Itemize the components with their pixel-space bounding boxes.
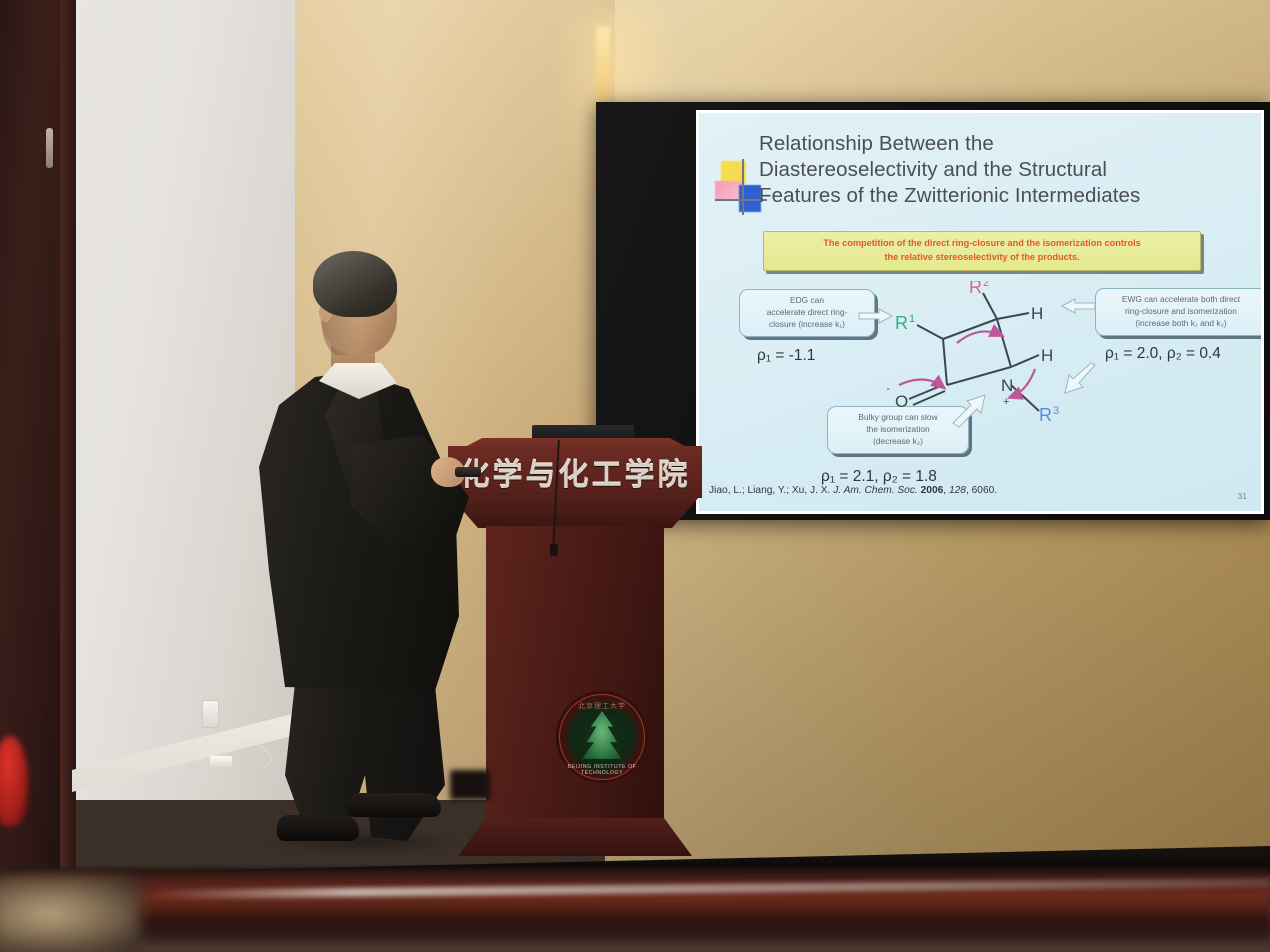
- slide-title-line-2: Diastereoselectivity and the Structural: [759, 157, 1239, 183]
- callout-ewg-line-2: ring-closure and isomerization: [1102, 306, 1260, 318]
- citation-volume: 128: [949, 485, 966, 496]
- power-adapter: [210, 756, 232, 767]
- podium-column: 北京理工大学 BEIJING INSTITUTE OF TECHNOLOGY: [486, 526, 664, 836]
- slide-content: Relationship Between the Diastereoselect…: [699, 113, 1261, 511]
- atom-label-H-1: H: [1031, 304, 1043, 323]
- slide: Relationship Between the Diastereoselect…: [696, 110, 1264, 514]
- slide-title: Relationship Between the Diastereoselect…: [759, 131, 1239, 210]
- atom-label-R2: R: [969, 281, 982, 297]
- callout-ewg: EWG can accelerate both direct ring-clos…: [1095, 288, 1261, 336]
- door-handle[interactable]: [46, 128, 53, 168]
- podium-sign-text: 化学与化工学院: [458, 450, 692, 494]
- lecture-photo: Relationship Between the Diastereoselect…: [0, 0, 1270, 952]
- podium: 化学与化工学院 北京理工大学 BEIJING INSTITUTE OF TECH…: [440, 420, 710, 860]
- atom-label-O: O: [895, 392, 908, 411]
- highlight-box: The competition of the direct ring-closu…: [763, 231, 1201, 271]
- highlight-line-2: the relative stereoselectivity of the pr…: [772, 251, 1192, 265]
- chemical-structure: O − N + H H R 1 R 2 R 3: [887, 281, 1097, 471]
- citation: Jiao, L.; Liang, Y.; Xu, J. X. J. Am. Ch…: [709, 485, 1159, 496]
- emblem-chinese-text: 北京理工大学: [556, 701, 648, 711]
- speaker: [255, 245, 470, 845]
- atom-label-N: N: [1001, 376, 1013, 395]
- callout-edg: EDG can accelerate direct ring- closure …: [739, 289, 875, 337]
- citation-page: 6060.: [972, 485, 998, 496]
- rho-value-edg: ρ₁ = -1.1: [757, 347, 815, 365]
- podium-shelf: [450, 496, 700, 528]
- emblem-english-text: BEIJING INSTITUTE OF TECHNOLOGY: [556, 764, 648, 776]
- laser-pointer-clicker[interactable]: [455, 467, 481, 477]
- power-outlet: [202, 700, 219, 728]
- callout-ewg-line-1: EWG can accelerate both direct: [1102, 294, 1260, 306]
- highlight-line-1: The competition of the direct ring-closu…: [772, 237, 1192, 251]
- speaker-hair: [313, 251, 397, 317]
- svg-text:2: 2: [983, 281, 989, 289]
- slide-page-number: 31: [1238, 491, 1247, 501]
- atom-label-R1: R: [895, 313, 908, 333]
- svg-text:3: 3: [1053, 405, 1059, 417]
- slide-title-line-1: Relationship Between the: [759, 131, 1239, 157]
- speaker-shoe-right: [347, 793, 441, 817]
- callout-ewg-line-3: (increase both k₁ and k₂): [1102, 318, 1260, 330]
- atom-label-H-2: H: [1041, 346, 1053, 365]
- svg-text:−: −: [887, 382, 890, 396]
- svg-text:1: 1: [909, 313, 915, 325]
- slide-title-line-3: Features of the Zwitterionic Intermediat…: [759, 183, 1239, 209]
- citation-authors: Jiao, L.; Liang, Y.; Xu, J. X.: [709, 485, 830, 496]
- callout-edg-line-2: accelerate direct ring-: [746, 307, 868, 319]
- speaker-shoe-left: [277, 815, 359, 841]
- bench-foreground-blur: [0, 876, 140, 952]
- svg-text:+: +: [1003, 396, 1009, 408]
- university-emblem: 北京理工大学 BEIJING INSTITUTE OF TECHNOLOGY: [556, 691, 648, 783]
- callout-edg-line-3: closure (increase k₁): [746, 319, 868, 331]
- citation-year: 2006: [921, 485, 944, 496]
- podium-base: [458, 818, 692, 856]
- rho-value-ewg: ρ₁ = 2.0, ρ₂ = 0.4: [1105, 345, 1221, 363]
- door-frame: [60, 0, 76, 880]
- podium-cable-plug: [550, 544, 558, 556]
- callout-edg-line-1: EDG can: [746, 295, 868, 307]
- atom-label-R3: R: [1039, 405, 1052, 425]
- citation-journal: J. Am. Chem. Soc.: [833, 485, 918, 496]
